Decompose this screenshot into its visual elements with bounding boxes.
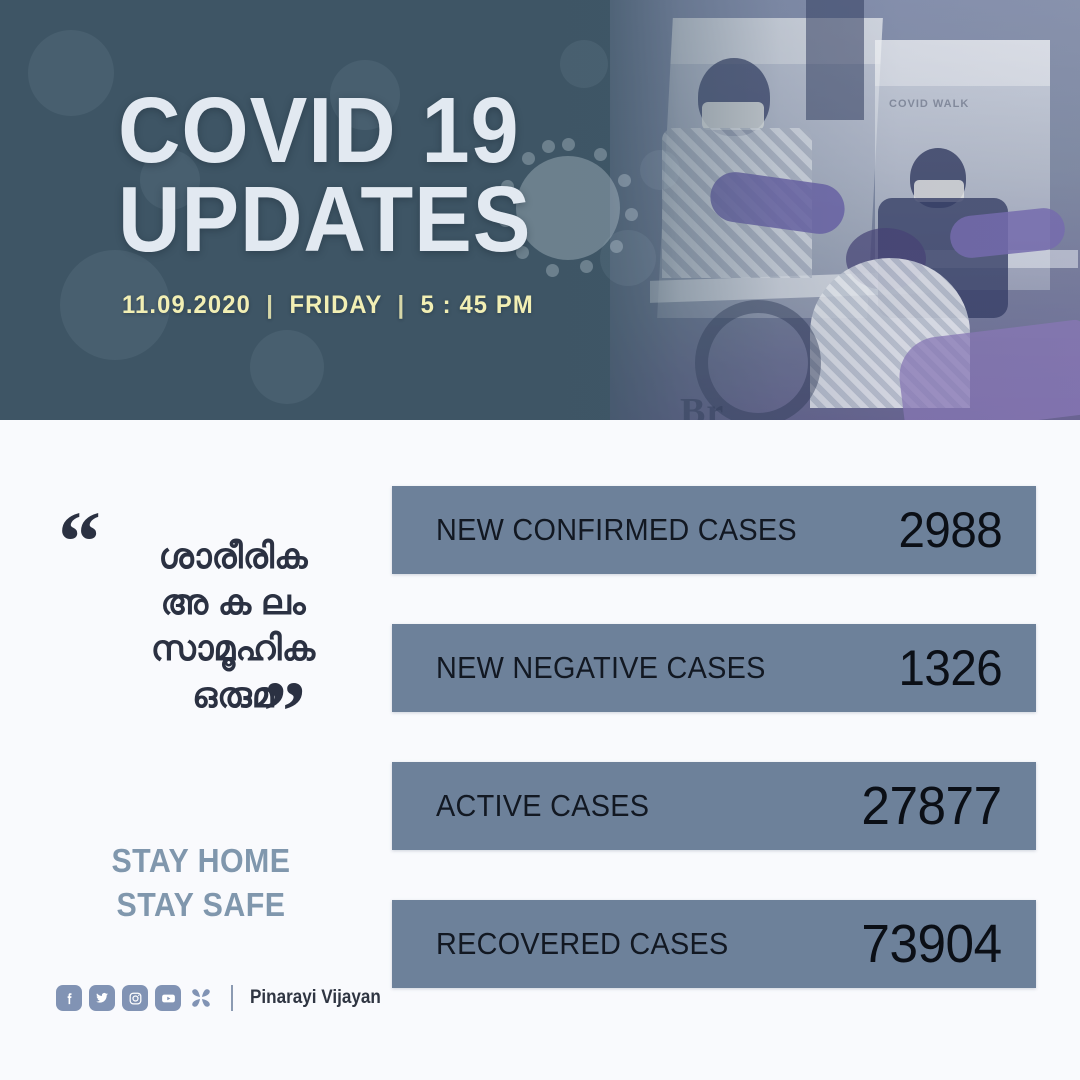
quote-open-mark-icon: “ <box>58 498 101 584</box>
stat-card-recovered[interactable]: RECOVERED CASES 73904 <box>392 900 1036 988</box>
stat-card-new-negative[interactable]: NEW NEGATIVE CASES 1326 <box>392 624 1036 712</box>
date-separator-1: | <box>259 291 282 319</box>
header-banner: COVID WALK Br <box>0 0 1080 420</box>
stat-label: NEW NEGATIVE CASES <box>436 650 766 686</box>
slogan-line-2: STAY SAFE <box>49 883 353 928</box>
stat-card-active[interactable]: ACTIVE CASES 27877 <box>392 762 1036 850</box>
slogan-line-1: STAY HOME <box>49 839 353 884</box>
bokeh-circle <box>560 40 608 88</box>
page-title-line-2: UPDATES <box>118 175 531 264</box>
quote-line-1: ശാരീരിക <box>108 534 358 580</box>
author-name: Pinarayi Vijayan <box>250 987 381 1009</box>
header-text-block: COVID 19 UPDATES 11.09.2020 | FRIDAY | 5… <box>118 86 562 320</box>
footer-divider <box>231 985 233 1011</box>
date-time-bar: 11.09.2020 | FRIDAY | 5 : 45 PM <box>122 291 540 320</box>
facebook-icon[interactable] <box>56 985 82 1011</box>
stat-value: 1326 <box>898 639 1002 697</box>
bokeh-circle <box>28 30 114 116</box>
stat-value: 2988 <box>898 501 1002 559</box>
footer-social-bar: Pinarayi Vijayan <box>56 985 395 1011</box>
quote-block: “ ശാരീരിക അ ക ലം സാമൂഹിക ഒരുമ ” <box>48 440 378 719</box>
four-petal-logo-icon[interactable] <box>188 985 214 1011</box>
quote-close-mark-icon: ” <box>263 668 306 754</box>
stats-card-list: NEW CONFIRMED CASES 2988 NEW NEGATIVE CA… <box>392 486 1036 1038</box>
instagram-icon[interactable] <box>122 985 148 1011</box>
bokeh-circle <box>250 330 324 404</box>
quote-line-3: സാമൂഹിക <box>108 626 358 672</box>
youtube-icon[interactable] <box>155 985 181 1011</box>
time-text: 5 : 45 PM <box>421 291 534 319</box>
date-text: 11.09.2020 <box>122 291 251 319</box>
stat-value: 73904 <box>862 913 1002 975</box>
stat-label: ACTIVE CASES <box>436 788 649 824</box>
quote-text: ശാരീരിക അ ക ലം സാമൂഹിക ഒരുമ <box>108 440 358 719</box>
stat-value: 27877 <box>862 775 1002 837</box>
slogan-block: STAY HOME STAY SAFE <box>49 839 353 928</box>
page-title-line-1: COVID 19 <box>118 86 531 175</box>
quote-line-4: ഒരുമ <box>108 673 358 719</box>
bokeh-circle <box>640 150 680 190</box>
stat-label: RECOVERED CASES <box>436 926 729 962</box>
date-separator-2: | <box>390 291 413 319</box>
stat-label: NEW CONFIRMED CASES <box>436 512 797 548</box>
left-column: “ ശാരീരിക അ ക ലം സാമൂഹിക ഒരുമ ” STAY HOM… <box>0 440 390 928</box>
day-text: FRIDAY <box>289 291 382 319</box>
quote-line-2: അ ക ലം <box>108 580 358 626</box>
stat-card-new-confirmed[interactable]: NEW CONFIRMED CASES 2988 <box>392 486 1036 574</box>
twitter-icon[interactable] <box>89 985 115 1011</box>
